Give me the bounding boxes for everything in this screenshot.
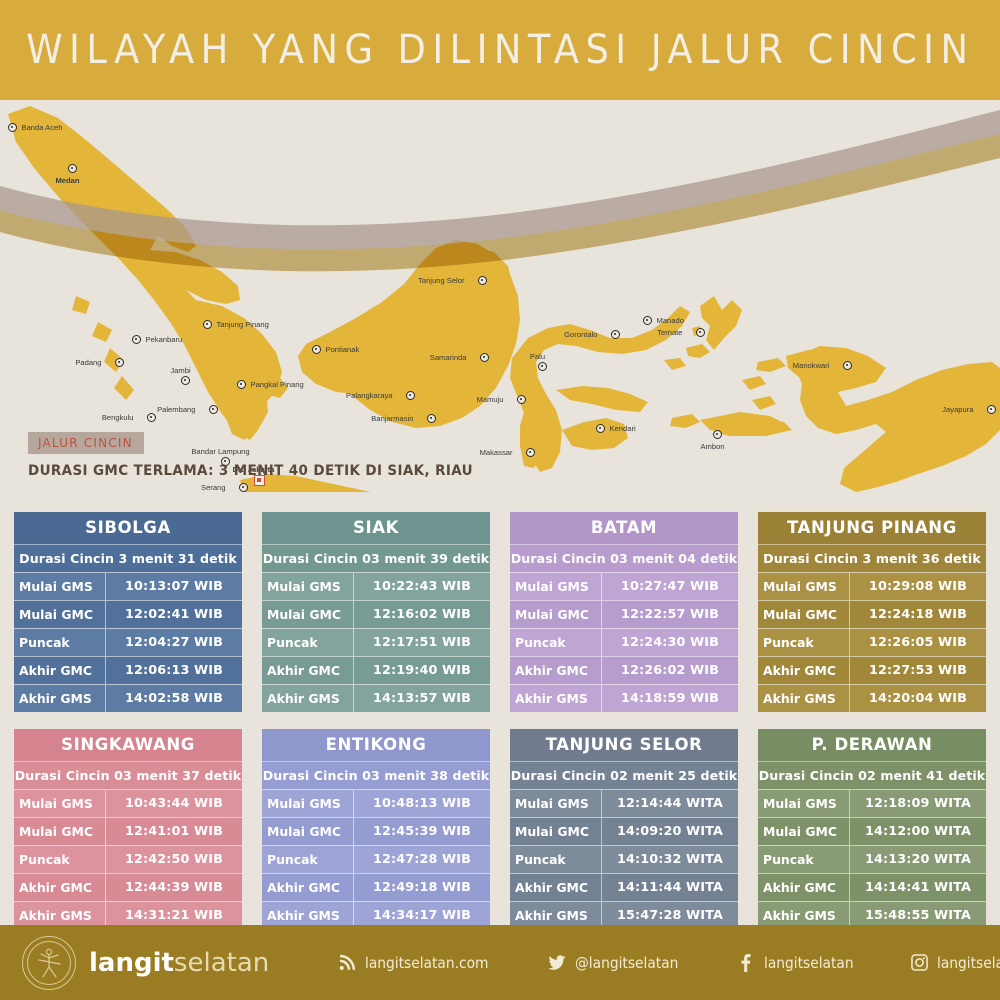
- city-label: Medan: [55, 176, 79, 185]
- card-row-label: Puncak: [262, 846, 354, 873]
- map-panel: Banda AcehMedanPekanbaruPadangJambiPalem…: [0, 100, 1000, 492]
- footer-link-label: @langitselatan: [575, 954, 678, 972]
- card-title: SIBOLGA: [14, 512, 242, 544]
- infographic-page: WILAYAH YANG DILINTASI JALUR CINCIN: [0, 0, 1000, 1000]
- card-row-value: 12:22:57 WIB: [602, 601, 738, 628]
- card-row: Akhir GMC12:49:18 WIB: [262, 873, 490, 901]
- city-pin-icon: [480, 353, 489, 362]
- card-row-value: 12:16:02 WIB: [354, 601, 490, 628]
- card-title: SIAK: [262, 512, 490, 544]
- card-row: Mulai GMS10:43:44 WIB: [14, 789, 242, 817]
- card-row-value: 12:45:39 WIB: [354, 818, 490, 845]
- card-row-label: Puncak: [262, 629, 354, 656]
- city-pin-icon: [237, 380, 246, 389]
- card-row: Puncak12:42:50 WIB: [14, 845, 242, 873]
- card-row-label: Mulai GMC: [262, 601, 354, 628]
- card-row-value: 14:13:57 WIB: [354, 685, 490, 712]
- city-pin-icon: [68, 164, 77, 173]
- city-label: Manado: [657, 316, 684, 325]
- footer-link-label: langitselatan: [764, 954, 854, 972]
- city-label: Kendari: [610, 424, 636, 433]
- card-row-value: 10:43:44 WIB: [106, 790, 242, 817]
- footer-link-label: langitselatan.com: [365, 954, 488, 972]
- card-subtitle: Durasi Cincin 3 menit 31 detik: [14, 544, 242, 572]
- card-row-value: 14:14:41 WITA: [850, 874, 986, 901]
- card-row-label: Mulai GMS: [510, 573, 602, 600]
- card-row-label: Akhir GMC: [510, 657, 602, 684]
- card-subtitle: Durasi Cincin 3 menit 36 detik: [758, 544, 986, 572]
- footer-link-facebook[interactable]: langitselatan: [736, 953, 861, 973]
- card-row-value: 14:10:32 WITA: [602, 846, 738, 873]
- twitter-icon: [547, 953, 567, 973]
- card-row-label: Mulai GMC: [14, 601, 106, 628]
- card-row: Puncak12:17:51 WIB: [262, 628, 490, 656]
- map-legend: JALUR CINCIN DURASI GMC TERLAMA: 3 MENIT…: [28, 432, 506, 479]
- card-row: Akhir GMC12:26:02 WIB: [510, 656, 738, 684]
- city-label: Tanjung Pinang: [217, 320, 269, 329]
- card-row-label: Akhir GMS: [510, 685, 602, 712]
- timing-card-batam: BATAMDurasi Cincin 03 menit 04 detikMula…: [510, 512, 738, 712]
- card-row-value: 14:09:20 WITA: [602, 818, 738, 845]
- card-row-label: Mulai GMS: [262, 573, 354, 600]
- card-row: Puncak12:04:27 WIB: [14, 628, 242, 656]
- timing-card-entikong: ENTIKONGDurasi Cincin 03 menit 38 detikM…: [262, 729, 490, 929]
- footer-link-instagram[interactable]: langitselatanmedia: [909, 953, 1000, 973]
- seal-figure-icon: [34, 946, 64, 980]
- card-row-value: 14:20:04 WIB: [850, 685, 986, 712]
- card-row-label: Akhir GMC: [14, 657, 106, 684]
- card-row: Mulai GMC12:41:01 WIB: [14, 817, 242, 845]
- card-row-value: 12:49:18 WIB: [354, 874, 490, 901]
- card-row-value: 14:02:58 WIB: [106, 685, 242, 712]
- card-row: Puncak12:24:30 WIB: [510, 628, 738, 656]
- card-row: Puncak12:26:05 WIB: [758, 628, 986, 656]
- card-row: Mulai GMS10:13:07 WIB: [14, 572, 242, 600]
- city-label: Ternate: [657, 328, 682, 337]
- city-label: Pontianak: [326, 345, 360, 354]
- card-row-label: Puncak: [14, 629, 106, 656]
- city-label: Pekanbaru: [146, 335, 183, 344]
- city-pin-icon: [517, 395, 526, 404]
- card-row-value: 12:18:09 WITA: [850, 790, 986, 817]
- city-pin-icon: [147, 413, 156, 422]
- city-label: Padang: [75, 358, 101, 367]
- card-row: Mulai GMC12:16:02 WIB: [262, 600, 490, 628]
- card-row-label: Mulai GMS: [510, 790, 602, 817]
- footer-links: langitselatan.com@langitselatanlangitsel…: [337, 953, 1000, 973]
- city-label: Mamuju: [476, 395, 503, 404]
- brand-logo: langitselatan: [22, 936, 269, 990]
- city-label: Palembang: [157, 405, 195, 414]
- card-row-label: Mulai GMC: [262, 818, 354, 845]
- card-row-label: Mulai GMC: [510, 601, 602, 628]
- city-pin-icon: [115, 358, 124, 367]
- city-label: Serang: [201, 483, 226, 492]
- card-row-value: 12:24:18 WIB: [850, 601, 986, 628]
- footer-link-label: langitselatanmedia: [937, 954, 1000, 972]
- city-pin-icon: [696, 328, 705, 337]
- city-pin-icon: [478, 276, 487, 285]
- card-row-value: 10:22:43 WIB: [354, 573, 490, 600]
- timing-card-sibolga: SIBOLGADurasi Cincin 3 menit 31 detikMul…: [14, 512, 242, 712]
- card-row: Mulai GMS10:22:43 WIB: [262, 572, 490, 600]
- card-title: BATAM: [510, 512, 738, 544]
- card-row-value: 12:14:44 WITA: [602, 790, 738, 817]
- card-row-label: Mulai GMS: [14, 573, 106, 600]
- card-row-label: Mulai GMC: [758, 818, 850, 845]
- city-label: Banjarmasin: [371, 414, 413, 423]
- map-caption: DURASI GMC TERLAMA: 3 MENIT 40 DETIK DI …: [28, 463, 473, 479]
- card-row-value: 12:04:27 WIB: [106, 629, 242, 656]
- card-row-value: 12:24:30 WIB: [602, 629, 738, 656]
- card-row-value: 14:13:20 WITA: [850, 846, 986, 873]
- city-pin-icon: [209, 405, 218, 414]
- instagram-icon: [909, 953, 929, 973]
- card-row: Puncak14:10:32 WITA: [510, 845, 738, 873]
- card-row: Mulai GMC14:09:20 WITA: [510, 817, 738, 845]
- card-row-value: 12:44:39 WIB: [106, 874, 242, 901]
- langitselatan-seal-icon: [22, 936, 76, 990]
- card-row-value: 12:47:28 WIB: [354, 846, 490, 873]
- card-row: Puncak12:47:28 WIB: [262, 845, 490, 873]
- card-row-value: 12:26:02 WIB: [602, 657, 738, 684]
- card-row: Puncak14:13:20 WITA: [758, 845, 986, 873]
- card-subtitle: Durasi Cincin 02 menit 41 detik: [758, 761, 986, 789]
- card-row: Mulai GMC12:02:41 WIB: [14, 600, 242, 628]
- card-row-value: 10:48:13 WIB: [354, 790, 490, 817]
- card-row: Mulai GMC12:22:57 WIB: [510, 600, 738, 628]
- card-subtitle: Durasi Cincin 03 menit 38 detik: [262, 761, 490, 789]
- card-row-value: 12:26:05 WIB: [850, 629, 986, 656]
- city-pin-icon: [713, 430, 722, 439]
- timing-card-singkawang: SINGKAWANGDurasi Cincin 03 menit 37 deti…: [14, 729, 242, 929]
- card-row-label: Mulai GMS: [14, 790, 106, 817]
- card-row: Akhir GMS14:18:59 WIB: [510, 684, 738, 712]
- card-subtitle: Durasi Cincin 02 menit 25 detik: [510, 761, 738, 789]
- card-row-label: Akhir GMC: [262, 874, 354, 901]
- card-row-label: Mulai GMC: [758, 601, 850, 628]
- city-pin-icon: [427, 414, 436, 423]
- card-row-label: Akhir GMS: [14, 685, 106, 712]
- city-label: Palu: [530, 352, 545, 361]
- timing-card-p-derawan: P. DERAWANDurasi Cincin 02 menit 41 deti…: [758, 729, 986, 929]
- card-row-value: 10:29:08 WIB: [850, 573, 986, 600]
- card-row-label: Akhir GMC: [758, 657, 850, 684]
- card-row: Akhir GMC12:44:39 WIB: [14, 873, 242, 901]
- card-row: Akhir GMC12:19:40 WIB: [262, 656, 490, 684]
- card-row: Mulai GMS10:29:08 WIB: [758, 572, 986, 600]
- card-row-label: Akhir GMC: [14, 874, 106, 901]
- card-row-value: 10:13:07 WIB: [106, 573, 242, 600]
- card-subtitle: Durasi Cincin 03 menit 04 detik: [510, 544, 738, 572]
- brand-langit: langit: [89, 948, 174, 978]
- card-row: Mulai GMS12:14:44 WITA: [510, 789, 738, 817]
- city-pin-icon: [538, 362, 547, 371]
- card-row-value: 12:06:13 WIB: [106, 657, 242, 684]
- timing-card-tanjung-pinang: TANJUNG PINANGDurasi Cincin 3 menit 36 d…: [758, 512, 986, 712]
- city-pin-icon: [611, 330, 620, 339]
- card-row-value: 14:12:00 WITA: [850, 818, 986, 845]
- card-row-label: Mulai GMC: [510, 818, 602, 845]
- city-label: Bengkulu: [102, 413, 134, 422]
- city-pin-icon: [181, 376, 190, 385]
- city-label: Pangkal Pinang: [251, 380, 304, 389]
- card-title: ENTIKONG: [262, 729, 490, 761]
- card-title: SINGKAWANG: [14, 729, 242, 761]
- city-pin-icon: [843, 361, 852, 370]
- city-label: Samarinda: [430, 353, 467, 362]
- city-pin-icon: [239, 483, 248, 492]
- card-row-label: Akhir GMC: [758, 874, 850, 901]
- card-row-value: 12:17:51 WIB: [354, 629, 490, 656]
- city-label: Gorontalo: [564, 330, 597, 339]
- page-title: WILAYAH YANG DILINTASI JALUR CINCIN: [26, 27, 974, 73]
- card-row-value: 12:41:01 WIB: [106, 818, 242, 845]
- card-row: Akhir GMS14:20:04 WIB: [758, 684, 986, 712]
- brand-selatan: selatan: [174, 948, 269, 978]
- card-row: Mulai GMS10:48:13 WIB: [262, 789, 490, 817]
- card-row-label: Akhir GMS: [262, 685, 354, 712]
- card-row: Mulai GMS12:18:09 WITA: [758, 789, 986, 817]
- card-row-label: Akhir GMC: [262, 657, 354, 684]
- card-row-label: Akhir GMS: [758, 685, 850, 712]
- card-row-value: 12:27:53 WIB: [850, 657, 986, 684]
- card-row-value: 14:18:59 WIB: [602, 685, 738, 712]
- city-label: Jayapura: [942, 405, 973, 414]
- city-pin-icon: [312, 345, 321, 354]
- card-row-label: Mulai GMC: [14, 818, 106, 845]
- legend-jalur-cincin: JALUR CINCIN: [28, 432, 144, 454]
- city-timing-cards: SIBOLGADurasi Cincin 3 menit 31 detikMul…: [0, 500, 1000, 925]
- city-pin-icon: [526, 448, 535, 457]
- city-label: Banda Aceh: [22, 123, 63, 132]
- card-row: Mulai GMC14:12:00 WITA: [758, 817, 986, 845]
- card-title: TANJUNG PINANG: [758, 512, 986, 544]
- city-label: Tanjung Selor: [418, 276, 464, 285]
- card-row: Mulai GMS10:27:47 WIB: [510, 572, 738, 600]
- card-row: Akhir GMC12:06:13 WIB: [14, 656, 242, 684]
- city-label: Ambon: [700, 442, 724, 451]
- card-row-value: 12:19:40 WIB: [354, 657, 490, 684]
- card-row-label: Puncak: [758, 629, 850, 656]
- city-pin-icon: [132, 335, 141, 344]
- card-row: Mulai GMC12:24:18 WIB: [758, 600, 986, 628]
- card-title: TANJUNG SELOR: [510, 729, 738, 761]
- city-pin-icon: [643, 316, 652, 325]
- card-row-label: Mulai GMS: [758, 573, 850, 600]
- card-row: Akhir GMS14:13:57 WIB: [262, 684, 490, 712]
- card-row-value: 14:11:44 WITA: [602, 874, 738, 901]
- timing-card-tanjung-selor: TANJUNG SELORDurasi Cincin 02 menit 25 d…: [510, 729, 738, 929]
- card-row-label: Puncak: [758, 846, 850, 873]
- card-row-value: 10:27:47 WIB: [602, 573, 738, 600]
- facebook-icon: [736, 953, 756, 973]
- city-pin-icon: [406, 391, 415, 400]
- city-label: Manokwari: [793, 361, 830, 370]
- card-subtitle: Durasi Cincin 03 menit 37 detik: [14, 761, 242, 789]
- rss-icon: [337, 953, 357, 973]
- page-footer: langitselatan langitselatan.com@langitse…: [0, 925, 1000, 1000]
- city-label: Palangkaraya: [346, 391, 392, 400]
- timing-card-siak: SIAKDurasi Cincin 03 menit 39 detikMulai…: [262, 512, 490, 712]
- page-header: WILAYAH YANG DILINTASI JALUR CINCIN: [0, 0, 1000, 100]
- card-subtitle: Durasi Cincin 03 menit 39 detik: [262, 544, 490, 572]
- card-title: P. DERAWAN: [758, 729, 986, 761]
- city-pin-icon: [203, 320, 212, 329]
- card-row-value: 12:42:50 WIB: [106, 846, 242, 873]
- brand-wordmark: langitselatan: [89, 950, 269, 976]
- card-row-value: 12:02:41 WIB: [106, 601, 242, 628]
- card-row-label: Akhir GMC: [510, 874, 602, 901]
- card-row: Akhir GMC14:14:41 WITA: [758, 873, 986, 901]
- card-row-label: Mulai GMS: [262, 790, 354, 817]
- card-row-label: Puncak: [510, 846, 602, 873]
- footer-link-rss[interactable]: langitselatan.com: [337, 953, 499, 973]
- card-row: Akhir GMC12:27:53 WIB: [758, 656, 986, 684]
- card-row-label: Puncak: [510, 629, 602, 656]
- city-pin-icon: [987, 405, 996, 414]
- card-row: Mulai GMC12:45:39 WIB: [262, 817, 490, 845]
- card-row-label: Mulai GMS: [758, 790, 850, 817]
- card-row: Akhir GMC14:11:44 WITA: [510, 873, 738, 901]
- footer-link-twitter[interactable]: @langitselatan: [547, 953, 687, 973]
- city-pin-icon: [8, 123, 17, 132]
- city-pin-icon: [596, 424, 605, 433]
- card-row-label: Puncak: [14, 846, 106, 873]
- city-label: Jambi: [170, 366, 190, 375]
- card-row: Akhir GMS14:02:58 WIB: [14, 684, 242, 712]
